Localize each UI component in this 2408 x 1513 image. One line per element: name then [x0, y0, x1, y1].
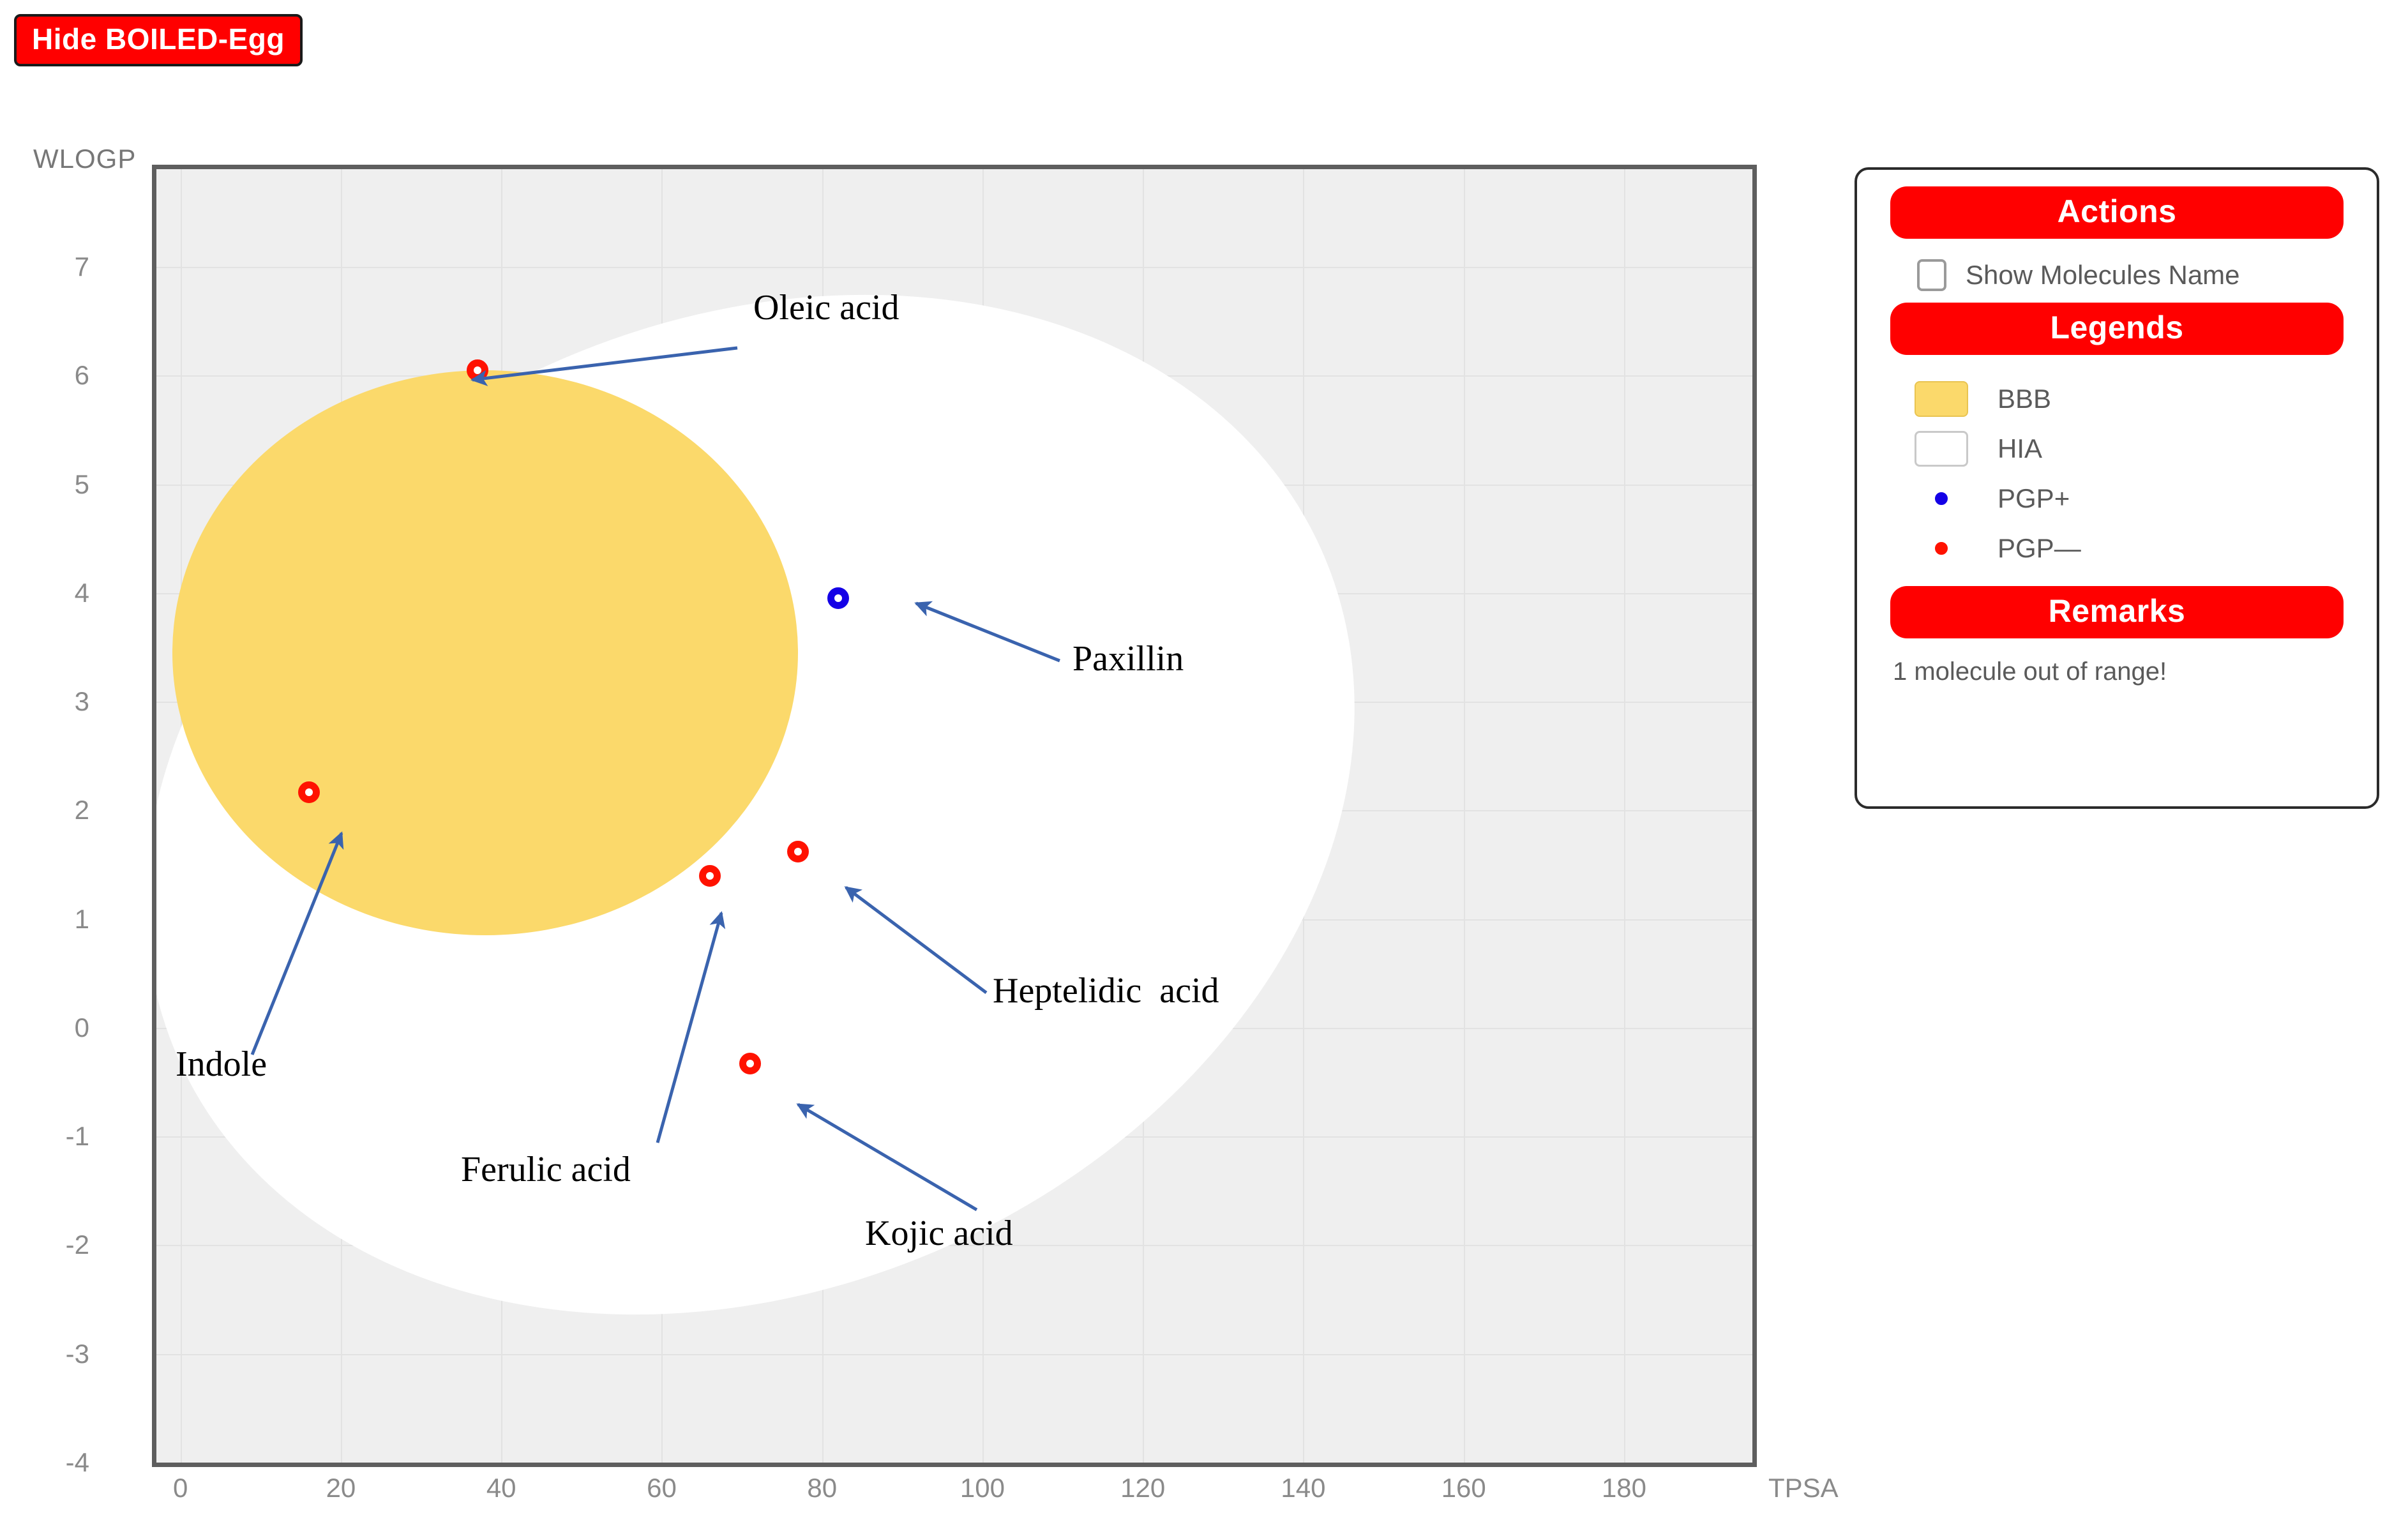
legend-row: PGP—: [1879, 523, 2355, 573]
show-molecules-name-label: Show Molecules Name: [1966, 260, 2240, 290]
x-axis-tick-label: 140: [1252, 1473, 1354, 1503]
legend-row: HIA: [1879, 424, 2355, 474]
gridline-horizontal: [156, 1463, 1752, 1464]
bbb-region: [172, 370, 798, 935]
y-axis-title: WLOGP: [33, 144, 136, 174]
x-axis-tick-label: 80: [771, 1473, 873, 1503]
y-axis-tick-label: 5: [0, 469, 89, 500]
y-axis-tick-label: -1: [0, 1121, 89, 1152]
y-axis-tick-label: -3: [0, 1339, 89, 1369]
data-point-marker[interactable]: [467, 359, 488, 381]
bbb-swatch-icon: [1915, 381, 1968, 417]
x-axis-tick-label: 120: [1092, 1473, 1194, 1503]
y-axis-tick-label: 0: [0, 1012, 89, 1043]
legend-label: PGP+: [1998, 483, 2070, 514]
y-axis-tick-label: 1: [0, 904, 89, 935]
legends-header: Legends: [1890, 303, 2344, 355]
side-panel: Actions Show Molecules Name Legends BBBH…: [1855, 167, 2379, 809]
data-point-marker[interactable]: [739, 1053, 761, 1074]
gridline-horizontal: [156, 267, 1752, 268]
legend-swatch: [1915, 542, 1968, 555]
x-axis-tick-label: 180: [1573, 1473, 1675, 1503]
remarks-text: 1 molecule out of range!: [1893, 658, 2355, 686]
data-point-marker[interactable]: [699, 865, 721, 887]
gridline-vertical: [1464, 169, 1465, 1463]
data-point-marker[interactable]: [827, 587, 849, 609]
plot-area: [152, 165, 1757, 1467]
x-axis-tick-label: 160: [1413, 1473, 1515, 1503]
legend-label: HIA: [1998, 433, 2042, 464]
y-axis-tick-label: -4: [0, 1447, 89, 1478]
show-molecules-name-checkbox[interactable]: [1917, 259, 1946, 291]
remarks-header: Remarks: [1890, 586, 2344, 638]
actions-header: Actions: [1890, 186, 2344, 239]
y-axis-tick-label: -2: [0, 1230, 89, 1260]
y-axis-tick-label: 6: [0, 360, 89, 391]
y-axis-tick-label: 7: [0, 252, 89, 282]
gridline-horizontal: [156, 1354, 1752, 1355]
data-point-marker[interactable]: [298, 781, 320, 803]
y-axis-tick-label: 2: [0, 795, 89, 825]
legend-label: BBB: [1998, 384, 2051, 414]
x-axis-tick-label: 0: [130, 1473, 232, 1503]
data-point-marker[interactable]: [787, 841, 809, 862]
legend-row: PGP+: [1879, 474, 2355, 523]
legend-swatch: [1915, 492, 1968, 505]
legend-label: PGP—: [1998, 533, 2081, 564]
y-axis-tick-label: 4: [0, 578, 89, 608]
pgp-plus-circle-icon: [1935, 492, 1948, 505]
boiled-egg-chart: WLOGP TPSA 76543210-1-2-3-40204060801001…: [0, 0, 1851, 1513]
y-axis-tick-label: 3: [0, 686, 89, 717]
legend-row: BBB: [1879, 374, 2355, 424]
x-axis-tick-label: 60: [610, 1473, 712, 1503]
gridline-vertical: [1624, 169, 1625, 1463]
x-axis-title: TPSA: [1768, 1473, 1839, 1503]
show-molecules-name-row[interactable]: Show Molecules Name: [1917, 259, 2355, 291]
pgp-minus-circle-icon: [1935, 542, 1948, 555]
hia-swatch-icon: [1915, 431, 1968, 467]
x-axis-tick-label: 20: [290, 1473, 392, 1503]
legend-list: BBBHIAPGP+PGP—: [1879, 374, 2355, 573]
x-axis-tick-label: 100: [931, 1473, 1034, 1503]
x-axis-tick-label: 40: [450, 1473, 552, 1503]
